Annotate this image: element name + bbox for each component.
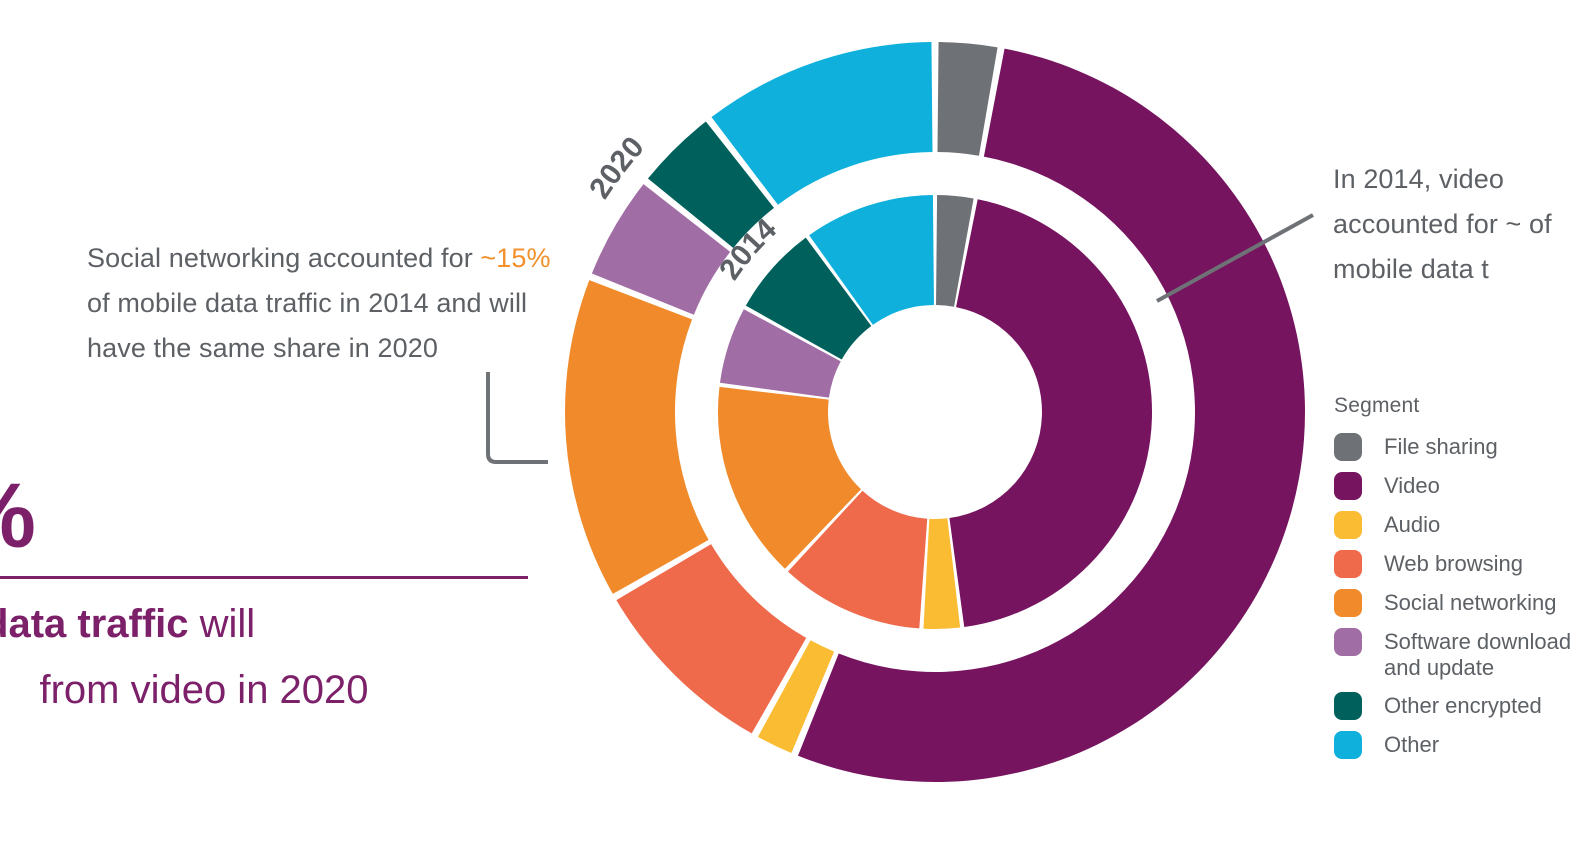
legend-swatch-icon — [1334, 692, 1362, 720]
headline-divider — [0, 576, 528, 579]
annotation-social-highlight: ~15% — [480, 243, 550, 273]
donut-ring-2020 — [565, 42, 1305, 782]
headline-subline-1: bile data traffic will — [0, 591, 534, 657]
legend-item-video[interactable]: Video — [1334, 472, 1580, 500]
legend-title: Segment — [1334, 394, 1580, 418]
legend-item-other[interactable]: Other — [1334, 731, 1580, 759]
donut-ring-2014 — [718, 195, 1152, 629]
legend-swatch-icon — [1334, 731, 1362, 759]
legend: Segment File sharingVideoAudioWeb browsi… — [1334, 394, 1580, 770]
legend-label: Web browsing — [1384, 551, 1523, 577]
legend-swatch-icon — [1334, 550, 1362, 578]
annotation-social-part2: of mobile data traffic in 2014 and will … — [87, 288, 527, 363]
legend-rows: File sharingVideoAudioWeb browsingSocial… — [1334, 433, 1580, 759]
legend-swatch-icon — [1334, 433, 1362, 461]
headline-bold-fragment: bile data traffic — [0, 602, 189, 646]
legend-item-web-browsing[interactable]: Web browsing — [1334, 550, 1580, 578]
legend-swatch-icon — [1334, 472, 1362, 500]
headline-block: 5% bile data traffic will from video in … — [0, 470, 534, 723]
headline-big-number: 5% — [0, 470, 534, 562]
legend-item-other-encrypted[interactable]: Other encrypted — [1334, 692, 1580, 720]
legend-label: Audio — [1384, 512, 1440, 538]
legend-label: Video — [1384, 473, 1440, 499]
legend-item-software-download-and-update[interactable]: Software download and update — [1334, 628, 1580, 681]
annotation-social-part1: Social networking accounted for — [87, 243, 480, 273]
legend-swatch-icon — [1334, 628, 1362, 656]
legend-label: File sharing — [1384, 434, 1498, 460]
legend-label: Software download and update — [1384, 629, 1571, 681]
legend-item-file-sharing[interactable]: File sharing — [1334, 433, 1580, 461]
legend-label: Other encrypted — [1384, 693, 1542, 719]
annotation-video-2014: In 2014, video accounted for ~ of mobile… — [1333, 157, 1580, 292]
leader-line-social-networking — [488, 372, 548, 462]
legend-item-social-networking[interactable]: Social networking — [1334, 589, 1580, 617]
legend-label: Other — [1384, 732, 1439, 758]
infographic-canvas: 2020 2014 Social networking accounted fo… — [0, 0, 1580, 850]
legend-swatch-icon — [1334, 511, 1362, 539]
legend-swatch-icon — [1334, 589, 1362, 617]
donut-segment-2020-social-networking[interactable] — [565, 280, 709, 594]
legend-item-audio[interactable]: Audio — [1334, 511, 1580, 539]
annotation-social-networking: Social networking accounted for ~15% of … — [87, 236, 557, 371]
legend-label: Social networking — [1384, 590, 1556, 616]
headline-subline-2: from video in 2020 — [0, 657, 504, 723]
donut-segment-2014-video[interactable] — [949, 199, 1152, 627]
headline-tail-1: will — [189, 602, 256, 646]
